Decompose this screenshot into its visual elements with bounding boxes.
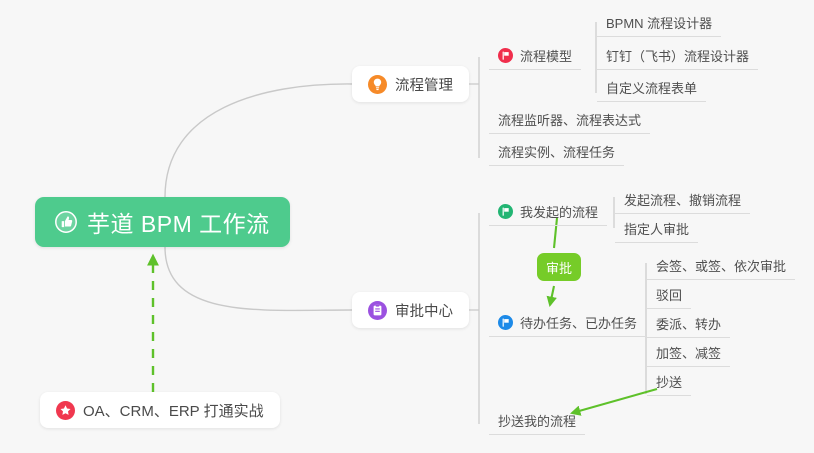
- oa-crm-erp-card[interactable]: OA、CRM、ERP 打通实战: [40, 392, 280, 428]
- node-label-dingtalk-feishu-designer: 钉钉（飞书）流程设计器: [606, 46, 749, 65]
- node-label-process-instance-task: 流程实例、流程任务: [498, 142, 615, 161]
- flag-blue-icon: [498, 315, 513, 330]
- arrow-started-to-todo-lower: [550, 286, 554, 305]
- node-dingtalk-feishu-designer[interactable]: 钉钉（飞书）流程设计器: [597, 41, 758, 70]
- node-start-cancel-process[interactable]: 发起流程、撤销流程: [615, 185, 750, 214]
- node-my-started-process[interactable]: 我发起的流程: [489, 197, 607, 226]
- node-label-start-cancel-process: 发起流程、撤销流程: [624, 190, 741, 209]
- node-add-remove-sign[interactable]: 加签、减签: [647, 338, 730, 367]
- edge-root-to-approval-center: [165, 247, 352, 310]
- branch-node-approval-center[interactable]: 审批中心: [352, 292, 469, 328]
- node-process-listener-expression[interactable]: 流程监听器、流程表达式: [489, 105, 650, 134]
- approval-sticker-label: 审批: [546, 258, 572, 277]
- node-label-cc: 抄送: [656, 372, 682, 391]
- root-label: 芋道 BPM 工作流: [87, 205, 270, 239]
- branch-node-process-management[interactable]: 流程管理: [352, 66, 469, 102]
- flag-red-icon: [498, 48, 513, 63]
- branch-label-process-management: 流程管理: [395, 74, 453, 95]
- node-countersign[interactable]: 会签、或签、依次审批: [647, 251, 795, 280]
- oa-crm-erp-card-label: OA、CRM、ERP 打通实战: [83, 400, 264, 421]
- clipboard-icon: [368, 301, 387, 320]
- node-label-countersign: 会签、或签、依次审批: [656, 256, 786, 275]
- node-bpmn-designer[interactable]: BPMN 流程设计器: [597, 8, 721, 37]
- node-label-todo-done-task: 待办任务、已办任务: [520, 313, 637, 332]
- lightbulb-icon: [368, 75, 387, 94]
- node-todo-done-task[interactable]: 待办任务、已办任务: [489, 308, 646, 337]
- mindmap-canvas: 芋道 BPM 工作流 流程管理 流程模型 BPMN 流程设计器 钉钉（飞书: [0, 0, 814, 453]
- branch-label-approval-center: 审批中心: [395, 300, 453, 321]
- node-label-reject: 驳回: [656, 285, 682, 304]
- edge-root-to-process-management: [165, 84, 352, 197]
- star-icon: [56, 401, 75, 420]
- node-label-my-started-process: 我发起的流程: [520, 202, 598, 221]
- node-assignee-approval[interactable]: 指定人审批: [615, 214, 698, 243]
- node-custom-process-form[interactable]: 自定义流程表单: [597, 73, 706, 102]
- thumbs-up-icon: [55, 211, 77, 233]
- node-reject[interactable]: 驳回: [647, 280, 691, 309]
- node-process-model[interactable]: 流程模型: [489, 41, 581, 70]
- node-label-process-model: 流程模型: [520, 46, 572, 65]
- node-delegate-transfer[interactable]: 委派、转办: [647, 309, 730, 338]
- node-label-custom-process-form: 自定义流程表单: [606, 78, 697, 97]
- node-label-process-listener-expression: 流程监听器、流程表达式: [498, 110, 641, 129]
- node-process-instance-task[interactable]: 流程实例、流程任务: [489, 137, 624, 166]
- node-label-assignee-approval: 指定人审批: [624, 219, 689, 238]
- node-cc[interactable]: 抄送: [647, 367, 691, 396]
- flag-green-icon: [498, 204, 513, 219]
- node-label-cc-to-me-process: 抄送我的流程: [498, 411, 576, 430]
- node-label-delegate-transfer: 委派、转办: [656, 314, 721, 333]
- node-cc-to-me-process[interactable]: 抄送我的流程: [489, 406, 585, 435]
- root-node[interactable]: 芋道 BPM 工作流: [35, 197, 290, 247]
- node-label-bpmn-designer: BPMN 流程设计器: [606, 13, 712, 32]
- approval-sticker[interactable]: 审批: [537, 253, 581, 281]
- node-label-add-remove-sign: 加签、减签: [656, 343, 721, 362]
